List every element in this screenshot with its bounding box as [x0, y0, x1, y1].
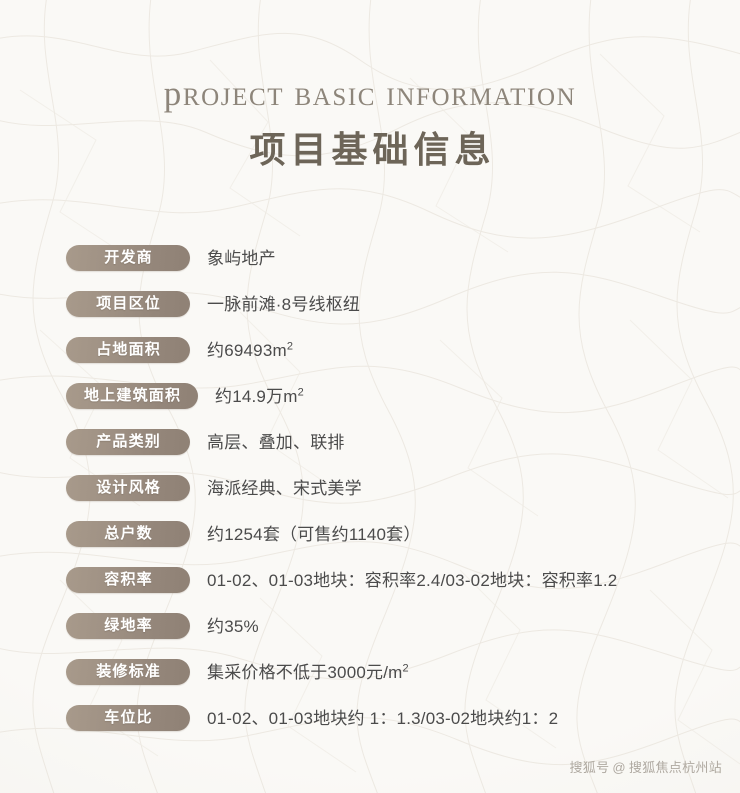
info-row: 装修标准集采价格不低于3000元/m2	[0, 659, 740, 705]
info-value-text: 约1254套（可售约1140套）	[207, 521, 740, 547]
info-label-text: 容积率	[103, 567, 153, 593]
info-row: 总户数约1254套（可售约1140套）	[0, 521, 740, 567]
info-value-text: 集采价格不低于3000元/m2	[207, 659, 740, 685]
watermark-account: 搜狐焦点杭州站	[629, 760, 722, 776]
info-value-text: 象屿地产	[207, 245, 740, 271]
info-label-text: 产品类别	[95, 429, 161, 455]
info-label-text: 地上建筑面积	[83, 383, 181, 409]
info-label-badge: 开发商	[66, 245, 190, 271]
info-label-badge: 地上建筑面积	[66, 383, 198, 409]
info-label-badge: 产品类别	[66, 429, 190, 455]
info-row: 设计风格海派经典、宋式美学	[0, 475, 740, 521]
info-row: 绿地率约35%	[0, 613, 740, 659]
info-row: 容积率01-02、01-03地块：容积率2.4/03-02地块：容积率1.2	[0, 567, 740, 613]
info-value-text: 约14.9万m2	[215, 383, 740, 409]
info-value-text: 一脉前滩·8号线枢纽	[207, 291, 740, 317]
info-row: 车位比01-02、01-03地块约 1：1.3/03-02地块约1：2	[0, 705, 740, 751]
info-label-badge: 项目区位	[66, 291, 190, 317]
at-icon: @	[612, 760, 626, 776]
page-root: Project Basic Information 项目基础信息 开发商象屿地产…	[0, 0, 740, 793]
page-header: Project Basic Information 项目基础信息	[0, 0, 740, 172]
info-row: 地上建筑面积约14.9万m2	[0, 383, 740, 429]
info-label-badge: 容积率	[66, 567, 190, 593]
info-label-text: 项目区位	[95, 291, 161, 317]
info-label-text: 占地面积	[95, 337, 161, 363]
info-value-text: 01-02、01-03地块：容积率2.4/03-02地块：容积率1.2	[207, 567, 740, 593]
info-label-badge: 总户数	[66, 521, 190, 547]
info-label-badge: 设计风格	[66, 475, 190, 501]
info-label-text: 绿地率	[103, 613, 153, 639]
info-row: 占地面积约69493m2	[0, 337, 740, 383]
watermark-prefix: 搜狐号	[569, 760, 609, 776]
info-label-badge: 绿地率	[66, 613, 190, 639]
info-row: 项目区位一脉前滩·8号线枢纽	[0, 291, 740, 337]
page-title-english: Project Basic Information	[0, 0, 740, 114]
info-label-text: 车位比	[103, 705, 153, 731]
info-value-text: 约35%	[207, 613, 740, 639]
info-row: 开发商象屿地产	[0, 245, 740, 291]
watermark: 搜狐号 @ 搜狐焦点杭州站	[569, 760, 722, 776]
project-info-list: 开发商象屿地产项目区位一脉前滩·8号线枢纽占地面积约69493m2地上建筑面积约…	[0, 245, 740, 751]
info-label-badge: 车位比	[66, 705, 190, 731]
info-row: 产品类别高层、叠加、联排	[0, 429, 740, 475]
page-title-chinese: 项目基础信息	[0, 114, 740, 172]
info-value-text: 海派经典、宋式美学	[207, 475, 740, 501]
info-value-text: 约69493m2	[207, 337, 740, 363]
info-value-text: 01-02、01-03地块约 1：1.3/03-02地块约1：2	[207, 705, 740, 731]
info-label-text: 装修标准	[95, 659, 161, 685]
info-label-text: 设计风格	[95, 475, 161, 501]
info-value-text: 高层、叠加、联排	[207, 429, 740, 455]
info-label-badge: 装修标准	[66, 659, 190, 685]
info-label-text: 开发商	[103, 245, 153, 271]
info-label-badge: 占地面积	[66, 337, 190, 363]
info-label-text: 总户数	[103, 521, 153, 547]
